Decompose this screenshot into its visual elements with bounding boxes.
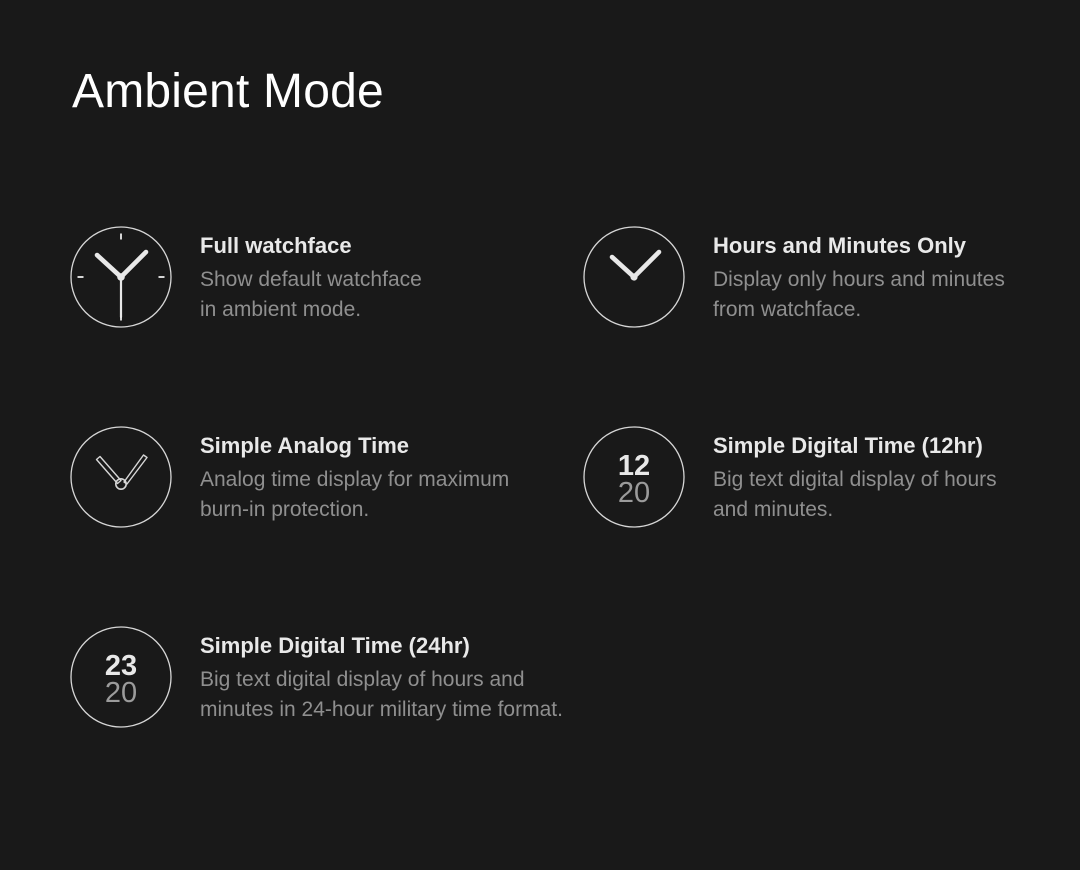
option-description-line-2: and minutes. <box>713 495 997 526</box>
option-item-hours-minutes-only[interactable]: Hours and Minutes Only Display only hour… <box>510 212 1080 412</box>
option-title: Simple Digital Time (12hr) <box>713 432 997 460</box>
option-row: 23 20 Simple Digital Time (24hr) Big tex… <box>0 612 1080 812</box>
option-description-line-1: Analog time display for maximum <box>200 465 509 496</box>
option-description-line-2: from watchface. <box>713 295 1005 326</box>
option-description-line-2: in ambient mode. <box>200 295 422 326</box>
option-row: Simple Analog Time Analog time display f… <box>0 412 1080 612</box>
clock-hands-only-icon <box>583 226 685 328</box>
outline-clock-icon <box>70 426 172 528</box>
option-description-line-1: Display only hours and minutes <box>713 265 1005 296</box>
ambient-mode-options-grid: Full watchface Show default watchface in… <box>0 212 1080 812</box>
page-title: Ambient Mode <box>72 66 384 119</box>
option-item-simple-analog-time[interactable]: Simple Analog Time Analog time display f… <box>0 412 510 612</box>
option-description-line-1: Show default watchface <box>200 265 422 296</box>
digital-time-12hr-icon: 12 20 <box>583 426 685 528</box>
ambient-mode-page: Ambient Mode <box>0 0 1080 870</box>
option-text-block: Simple Digital Time (12hr) Big text digi… <box>713 412 997 526</box>
option-description-line-2: burn-in protection. <box>200 495 509 526</box>
option-text-block: Full watchface Show default watchface in… <box>200 212 422 326</box>
option-item-simple-digital-12hr[interactable]: 12 20 Simple Digital Time (12hr) Big tex… <box>510 412 1080 612</box>
option-description-line-1: Big text digital display of hours <box>713 465 997 496</box>
option-item-simple-digital-24hr[interactable]: 23 20 Simple Digital Time (24hr) Big tex… <box>0 612 510 812</box>
option-text-block: Simple Digital Time (24hr) Big text digi… <box>200 612 563 726</box>
option-title: Simple Digital Time (24hr) <box>200 632 563 660</box>
option-description-line-2: minutes in 24-hour military time format. <box>200 695 563 726</box>
digital-minutes: 20 <box>105 677 137 709</box>
option-title: Full watchface <box>200 232 422 260</box>
digital-time-24hr-icon: 23 20 <box>70 626 172 728</box>
watchface-full-clock-icon <box>70 226 172 328</box>
option-title: Hours and Minutes Only <box>713 232 1005 260</box>
digital-minutes: 20 <box>618 477 650 509</box>
option-title: Simple Analog Time <box>200 432 509 460</box>
option-description-line-1: Big text digital display of hours and <box>200 665 563 696</box>
option-item-full-watchface[interactable]: Full watchface Show default watchface in… <box>0 212 510 412</box>
option-text-block: Hours and Minutes Only Display only hour… <box>713 212 1005 326</box>
option-row: Full watchface Show default watchface in… <box>0 212 1080 412</box>
option-text-block: Simple Analog Time Analog time display f… <box>200 412 509 526</box>
